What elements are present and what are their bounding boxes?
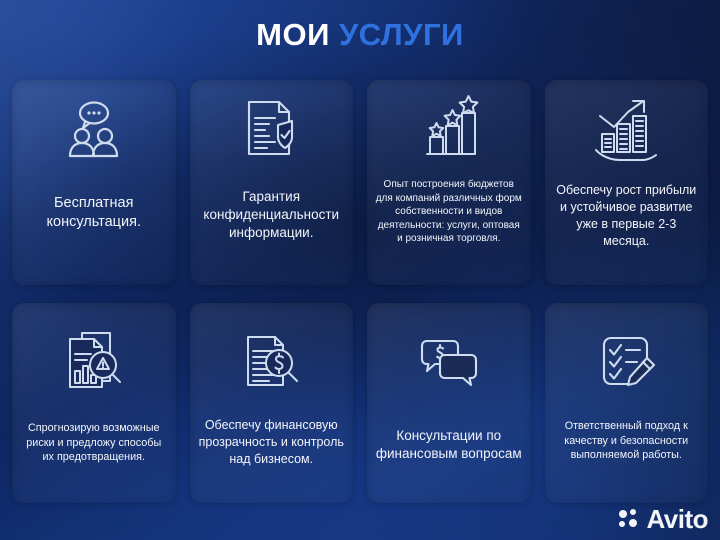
services-grid: Бесплатная консультация. Гарантия конфид… (12, 80, 708, 503)
service-card-text: Ответственный подход к качеству и безопа… (553, 419, 701, 463)
avito-watermark: Avito (619, 506, 708, 532)
service-card-free-consultation[interactable]: Бесплатная консультация. (12, 80, 176, 285)
service-card-text: Обеспечу рост прибыли и устойчивое разви… (553, 182, 701, 250)
service-card-text: Гарантия конфиденциальности информации. (198, 188, 346, 242)
service-card-text: Опыт построения бюджетов для компаний ра… (374, 178, 524, 246)
document-shield-check-icon (235, 94, 307, 166)
service-card-text: Бесплатная консультация. (20, 194, 168, 232)
bar-chart-stars-icon (413, 94, 485, 160)
finance-document-magnifier-icon (235, 325, 307, 397)
service-card-profit-growth[interactable]: Обеспечу рост прибыли и устойчивое разви… (545, 80, 709, 285)
title-word-blue: УСЛУГИ (339, 17, 464, 52)
poster-background: МОИ УСЛУГИ Бесплатная консультация. (0, 0, 720, 540)
risk-document-magnifier-icon (58, 325, 130, 397)
service-card-text: Обеспечу финансовую прозрачность и контр… (198, 417, 346, 468)
service-card-text: Консультации по финансовым вопросам (375, 427, 523, 463)
avito-logo-icon (619, 509, 641, 529)
service-card-text: Спрогнозирую возможные риски и предложу … (20, 421, 168, 465)
service-card-responsible-approach[interactable]: Ответственный подход к качеству и безопа… (545, 303, 709, 503)
people-chat-icon (58, 94, 130, 166)
title-word-white: МОИ (256, 17, 330, 52)
growth-buildings-hand-icon (590, 94, 662, 166)
service-card-confidentiality[interactable]: Гарантия конфиденциальности информации. (190, 80, 354, 285)
service-card-budget-experience[interactable]: Опыт построения бюджетов для компаний ра… (367, 80, 531, 285)
dollar-speech-bubbles-icon (413, 329, 485, 401)
checklist-pencil-icon (590, 325, 662, 397)
service-card-financial-consulting[interactable]: Консультации по финансовым вопросам (367, 303, 531, 503)
avito-brand-text: Avito (646, 506, 708, 532)
service-card-risk-forecast[interactable]: Спрогнозирую возможные риски и предложу … (12, 303, 176, 503)
page-title: МОИ УСЛУГИ (0, 18, 720, 52)
service-card-financial-transparency[interactable]: Обеспечу финансовую прозрачность и контр… (190, 303, 354, 503)
